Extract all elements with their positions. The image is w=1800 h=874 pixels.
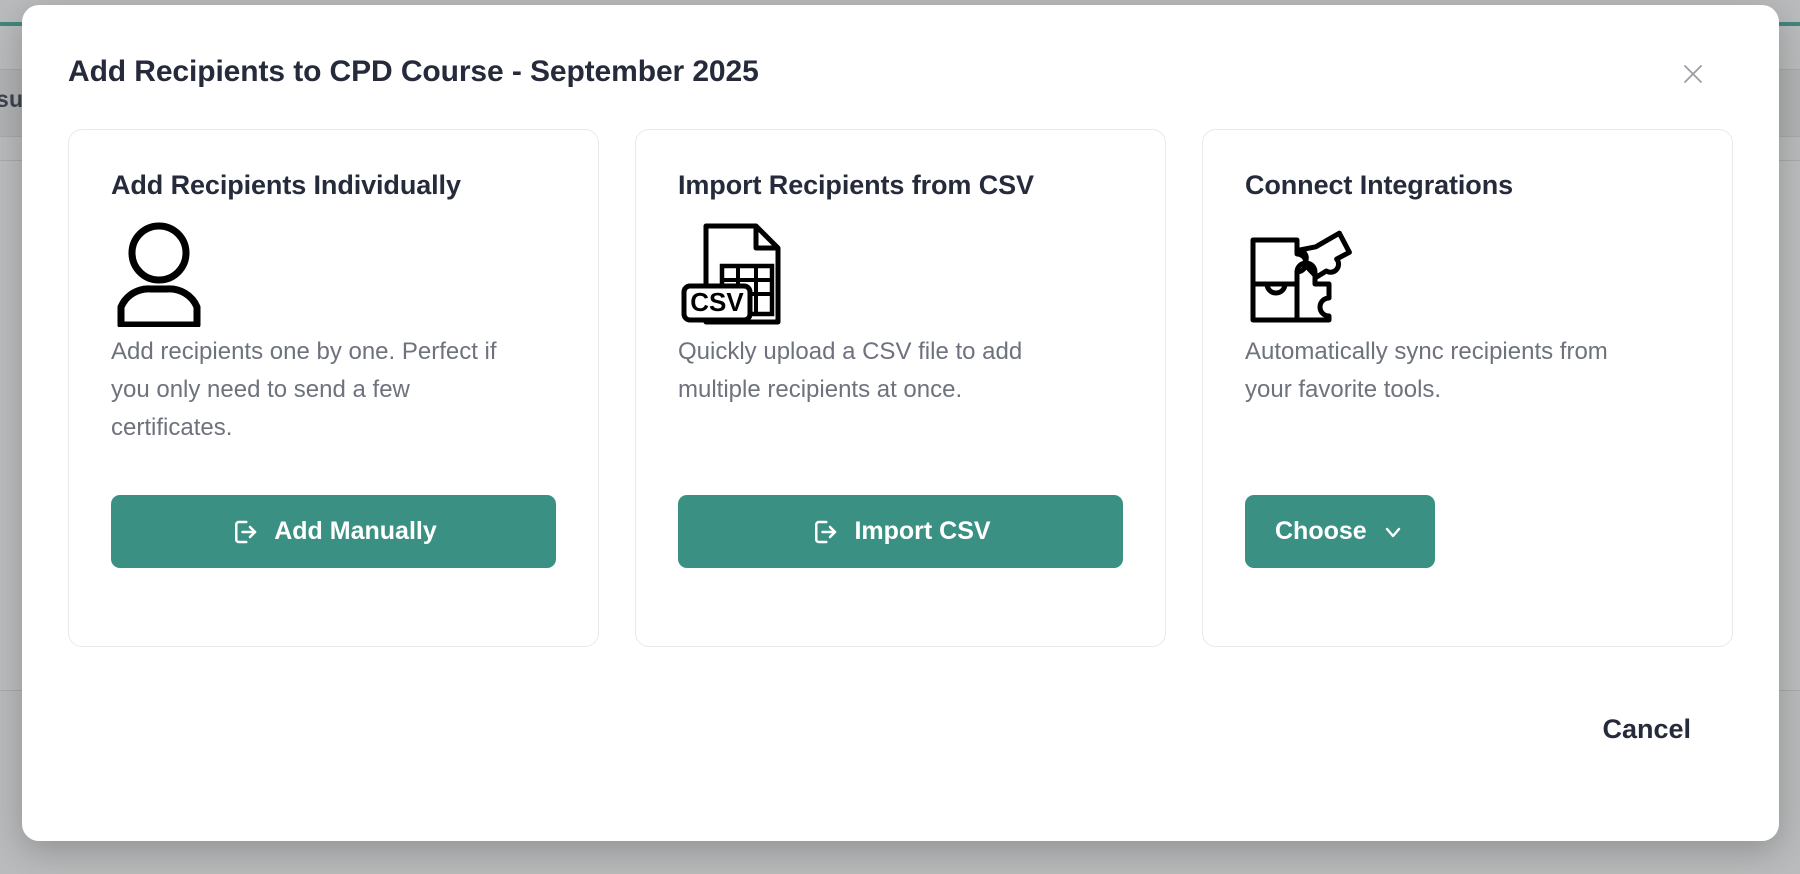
card-action: Import CSV	[678, 495, 1123, 568]
import-csv-button[interactable]: Import CSV	[678, 495, 1123, 568]
modal-title: Add Recipients to CPD Course - September…	[68, 55, 759, 89]
export-arrow-icon	[230, 517, 260, 547]
chevron-down-icon	[1381, 520, 1405, 544]
add-recipients-modal: Add Recipients to CPD Course - September…	[22, 5, 1779, 841]
cancel-button[interactable]: Cancel	[1590, 706, 1703, 753]
export-arrow-icon	[810, 517, 840, 547]
card-add-individually[interactable]: Add Recipients Individually Add recipien…	[68, 129, 599, 647]
card-title: Add Recipients Individually	[111, 170, 556, 201]
choose-button[interactable]: Choose	[1245, 495, 1435, 568]
person-icon	[111, 215, 556, 333]
card-title: Connect Integrations	[1245, 170, 1690, 201]
card-import-csv[interactable]: Import Recipients from CSV CSV	[635, 129, 1166, 647]
card-connect-integrations[interactable]: Connect Integrations Automatically sync …	[1202, 129, 1733, 647]
button-label: Choose	[1275, 517, 1367, 546]
button-label: Add Manually	[274, 517, 437, 546]
card-description: Quickly upload a CSV file to add multipl…	[678, 333, 1078, 409]
button-label: Import CSV	[854, 517, 990, 546]
card-description: Automatically sync recipients from your …	[1245, 333, 1645, 409]
add-manually-button[interactable]: Add Manually	[111, 495, 556, 568]
card-title: Import Recipients from CSV	[678, 170, 1123, 201]
modal-footer: Cancel	[68, 647, 1733, 841]
close-icon[interactable]	[1671, 52, 1715, 96]
option-cards: Add Recipients Individually Add recipien…	[68, 129, 1733, 647]
modal-header: Add Recipients to CPD Course - September…	[68, 5, 1733, 129]
puzzle-pieces-icon	[1245, 215, 1690, 333]
csv-badge-label: CSV	[690, 287, 744, 317]
csv-file-icon: CSV	[678, 215, 1123, 333]
card-action: Add Manually	[111, 495, 556, 568]
background-partial-text: su	[0, 86, 23, 113]
card-description: Add recipients one by one. Perfect if yo…	[111, 333, 511, 447]
card-action: Choose	[1245, 495, 1690, 568]
